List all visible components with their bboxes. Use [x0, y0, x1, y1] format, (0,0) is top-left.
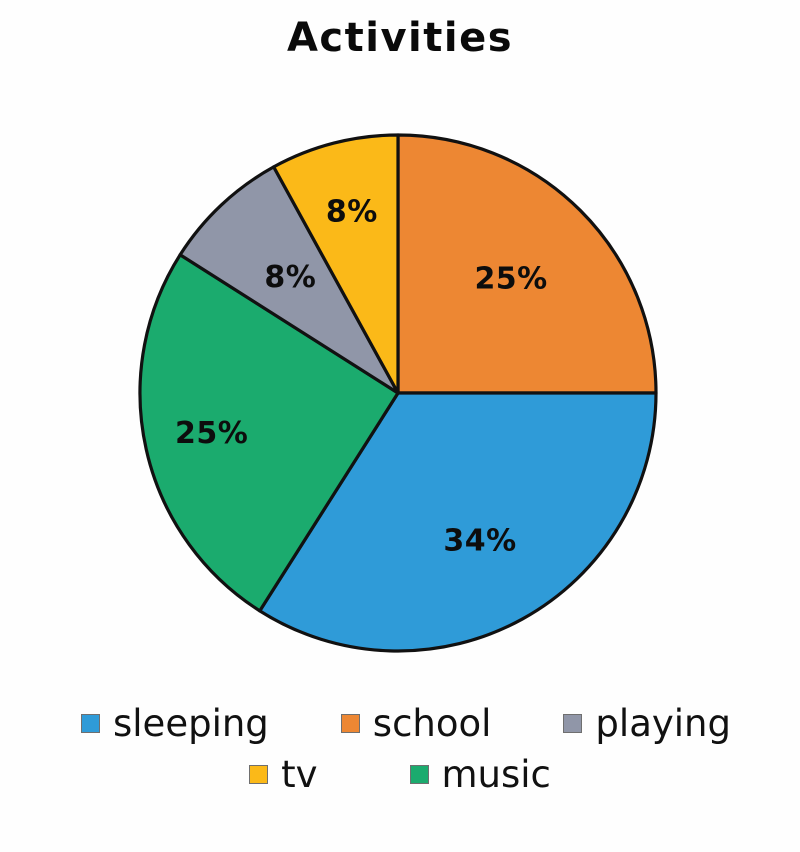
- legend-swatch-sleeping: [81, 714, 100, 733]
- pie-data-label-sleeping: 34%: [443, 524, 516, 559]
- pie-data-label-music: 25%: [175, 416, 248, 451]
- legend-label-sleeping: sleeping: [113, 705, 269, 742]
- pie-plot-area: 25%34%25%8%8%: [0, 0, 800, 700]
- legend-item-school[interactable]: school: [341, 705, 492, 742]
- legend-row-2: tvmusic: [0, 756, 800, 793]
- legend-item-music[interactable]: music: [410, 756, 551, 793]
- legend-label-tv: tv: [281, 756, 317, 793]
- chart-legend: sleepingschoolplaying tvmusic: [0, 705, 800, 793]
- pie-data-label-school: 25%: [474, 261, 547, 296]
- legend-item-playing[interactable]: playing: [563, 705, 731, 742]
- pie-slices-group: [140, 135, 656, 651]
- legend-item-tv[interactable]: tv: [249, 756, 317, 793]
- legend-swatch-tv: [249, 765, 268, 784]
- legend-swatch-school: [341, 714, 360, 733]
- legend-label-playing: playing: [595, 705, 731, 742]
- pie-data-label-tv: 8%: [326, 195, 378, 230]
- legend-label-school: school: [373, 705, 492, 742]
- legend-label-music: music: [442, 756, 551, 793]
- pie-svg: 25%34%25%8%8%: [0, 0, 800, 700]
- legend-row-1: sleepingschoolplaying: [0, 705, 800, 742]
- pie-chart-figure: Activities 25%34%25%8%8% sleepingschoolp…: [0, 0, 800, 852]
- legend-item-sleeping[interactable]: sleeping: [81, 705, 269, 742]
- legend-swatch-playing: [563, 714, 582, 733]
- pie-data-label-playing: 8%: [264, 260, 316, 295]
- legend-swatch-music: [410, 765, 429, 784]
